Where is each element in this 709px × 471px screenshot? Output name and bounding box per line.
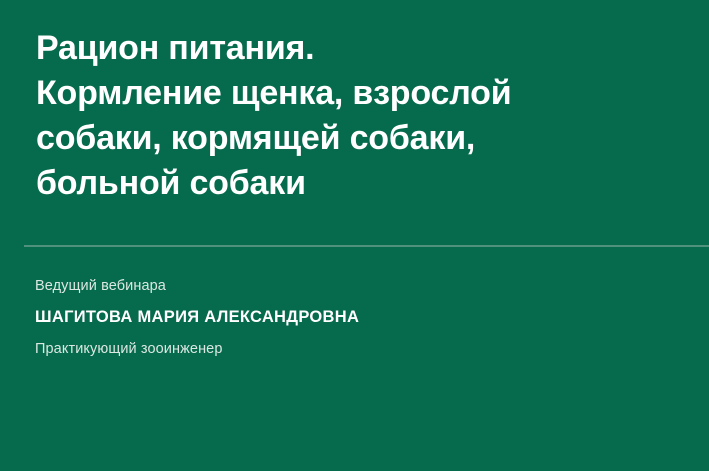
presenter-occupation: Практикующий зооинженер — [35, 339, 635, 359]
horizontal-divider — [24, 245, 709, 247]
slide-title: Рацион питания. Кормление щенка, взросло… — [36, 26, 676, 206]
presenter-name: ШАГИТОВА МАРИЯ АЛЕКСАНДРОВНА — [35, 307, 635, 328]
title-block: Рацион питания. Кормление щенка, взросло… — [36, 26, 676, 206]
presenter-block: Ведущий вебинара ШАГИТОВА МАРИЯ АЛЕКСАНД… — [35, 276, 635, 359]
title-slide: Рацион питания. Кормление щенка, взросло… — [0, 0, 709, 471]
presenter-role-label: Ведущий вебинара — [35, 276, 635, 296]
